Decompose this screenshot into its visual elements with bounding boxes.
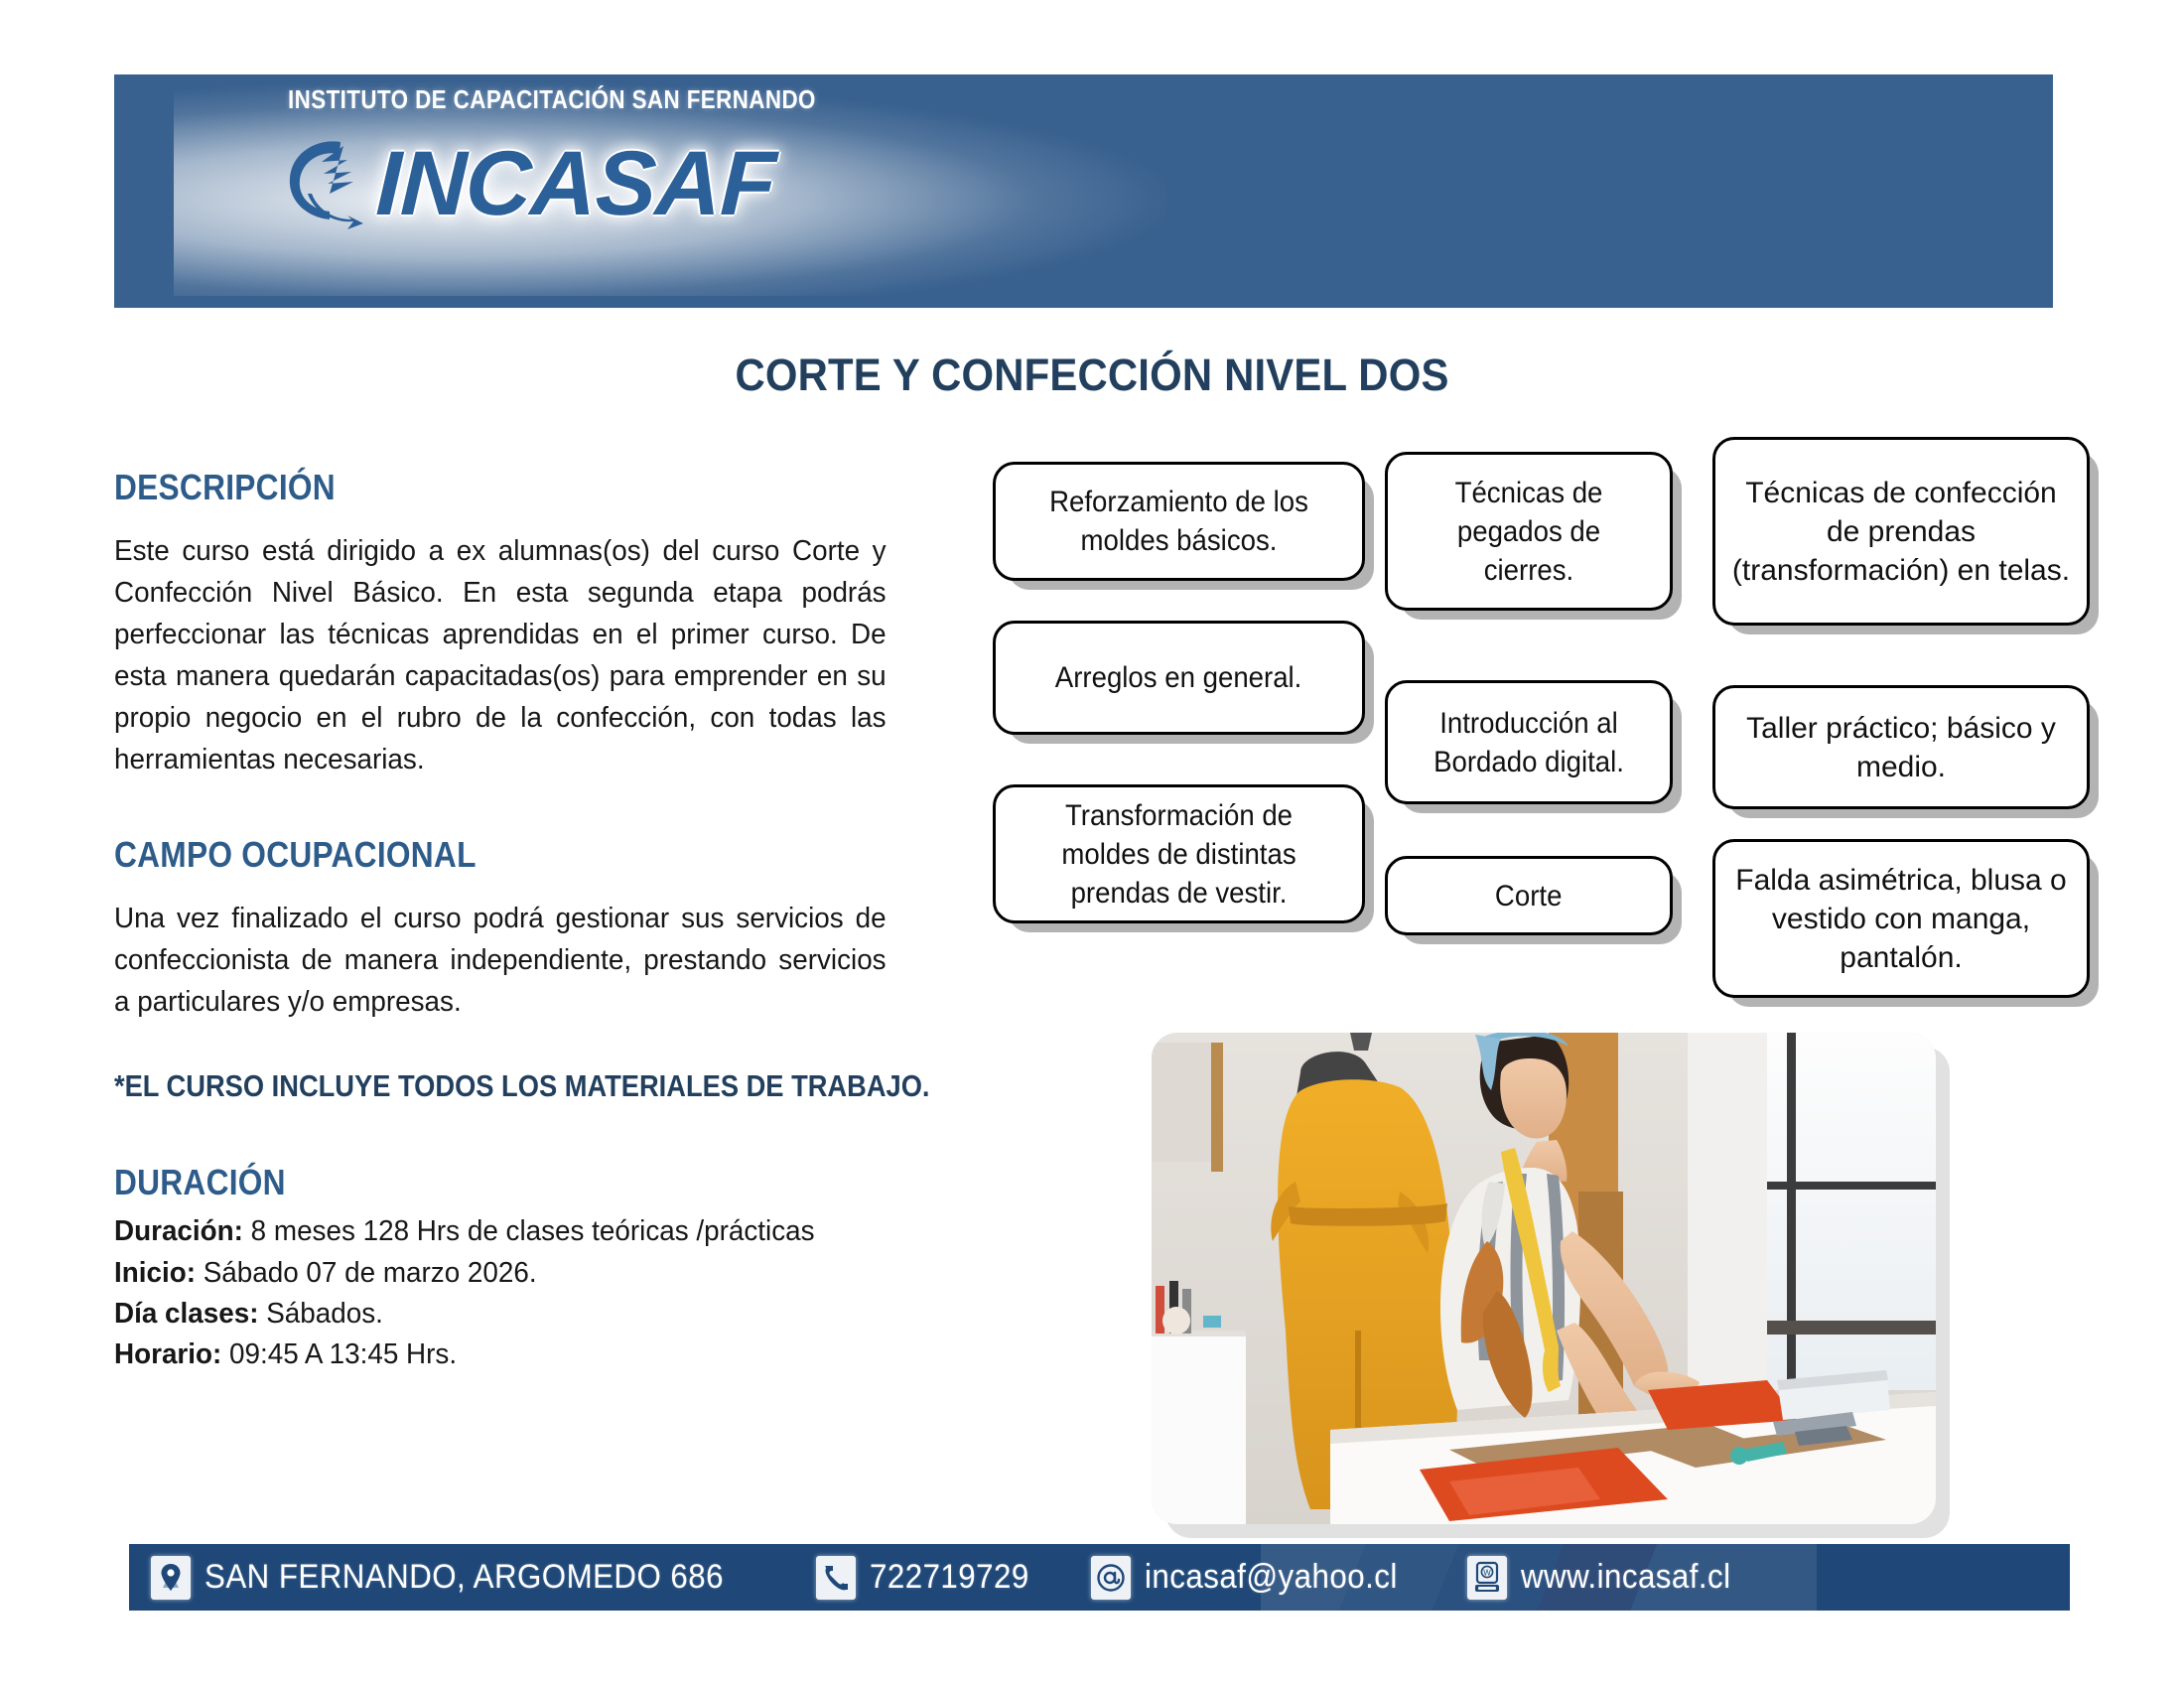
duracion-row-value: 8 meses 128 Hrs de clases teóricas /prác… xyxy=(243,1215,815,1247)
campo-ocupacional-heading: CAMPO OCUPACIONAL xyxy=(114,834,822,876)
content-box-label: Corte xyxy=(1495,877,1562,915)
duracion-row-value: Sábado 07 de marzo 2026. xyxy=(196,1257,537,1289)
at-email-icon xyxy=(1091,1556,1131,1600)
campo-ocupacional-section: CAMPO OCUPACIONAL Una vez finalizado el … xyxy=(114,834,918,1023)
logo: INCASAF xyxy=(278,132,775,236)
seamstress-photo xyxy=(1152,1033,1936,1524)
descripcion-section: DESCRIPCIÓN Este curso está dirigido a e… xyxy=(114,467,918,780)
phone-icon xyxy=(816,1556,856,1600)
descripcion-heading: DESCRIPCIÓN xyxy=(114,467,822,508)
footer-address-text: SAN FERNANDO, ARGOMEDO 686 xyxy=(205,1558,724,1597)
content-box-label: Reforzamiento de los moldes básicos. xyxy=(1024,483,1335,560)
duracion-row: Horario: 09:45 A 13:45 Hrs. xyxy=(114,1335,887,1375)
footer-bar: SAN FERNANDO, ARGOMEDO 686 722719729 inc… xyxy=(129,1544,2070,1611)
duracion-row-label: Día clases: xyxy=(114,1298,258,1330)
content-box-label: Técnicas de pegados de cierres. xyxy=(1412,474,1646,590)
campo-ocupacional-paragraph: Una vez finalizado el curso podrá gestio… xyxy=(114,898,887,1023)
duracion-row-value: Sábados. xyxy=(258,1298,382,1330)
duracion-heading: DURACIÓN xyxy=(114,1162,822,1203)
content-box[interactable]: Arreglos en general. xyxy=(993,621,1365,735)
duracion-section: DURACIÓN Duración: 8 meses 128 Hrs de cl… xyxy=(114,1162,918,1375)
footer-email[interactable]: incasaf@yahoo.cl xyxy=(1091,1556,1420,1600)
footer-website-text: www.incasaf.cl xyxy=(1521,1558,1731,1597)
content-box[interactable]: Taller práctico; básico y medio. xyxy=(1712,685,2090,809)
duracion-row-value: 09:45 A 13:45 Hrs. xyxy=(221,1338,457,1370)
duracion-row-label: Duración: xyxy=(114,1215,243,1247)
content-box-label: Arreglos en general. xyxy=(1055,658,1302,697)
content-box[interactable]: Reforzamiento de los moldes básicos. xyxy=(993,462,1365,581)
content-box-label: Taller práctico; básico y medio. xyxy=(1729,709,2073,786)
footer-website[interactable]: W www.incasaf.cl xyxy=(1467,1556,1749,1600)
svg-text:W: W xyxy=(1483,1568,1491,1577)
content-box[interactable]: Falda asimétrica, blusa o vestido con ma… xyxy=(1712,839,2090,998)
header-bar: INSTITUTO DE CAPACITACIÓN SAN FERNANDO I… xyxy=(114,74,2053,308)
page-title: CORTE Y CONFECCIÓN NIVEL DOS xyxy=(76,350,2108,401)
content-box-label: Técnicas de confección de prendas (trans… xyxy=(1729,474,2073,590)
institute-name: INSTITUTO DE CAPACITACIÓN SAN FERNANDO xyxy=(288,84,816,115)
logo-wordmark: INCASAF xyxy=(374,137,776,231)
content-box[interactable]: Transformación de moldes de distintas pr… xyxy=(993,784,1365,923)
footer-phone-text: 722719729 xyxy=(870,1558,1029,1597)
content-box-label: Falda asimétrica, blusa o vestido con ma… xyxy=(1729,861,2073,977)
duracion-row: Día clases: Sábados. xyxy=(114,1294,887,1335)
content-box-label: Introducción al Bordado digital. xyxy=(1412,704,1646,781)
duracion-row: Duración: 8 meses 128 Hrs de clases teór… xyxy=(114,1211,887,1252)
content-box[interactable]: Introducción al Bordado digital. xyxy=(1385,680,1673,804)
duracion-row-label: Horario: xyxy=(114,1338,221,1370)
footer-email-text: incasaf@yahoo.cl xyxy=(1145,1558,1398,1597)
content-box[interactable]: Técnicas de confección de prendas (trans… xyxy=(1712,437,2090,626)
descripcion-paragraph: Este curso está dirigido a ex alumnas(os… xyxy=(114,530,887,780)
website-computer-icon: W xyxy=(1467,1556,1507,1600)
content-box[interactable]: Corte xyxy=(1385,856,1673,935)
footer-address[interactable]: SAN FERNANDO, ARGOMEDO 686 xyxy=(151,1556,768,1600)
footer-phone[interactable]: 722719729 xyxy=(816,1556,1043,1600)
content-box[interactable]: Técnicas de pegados de cierres. xyxy=(1385,452,1673,611)
left-content-column: DESCRIPCIÓN Este curso está dirigido a e… xyxy=(114,467,918,1375)
eagle-logo-icon xyxy=(278,132,372,236)
content-box-label: Transformación de moldes de distintas pr… xyxy=(1024,796,1335,913)
duracion-row: Inicio: Sábado 07 de marzo 2026. xyxy=(114,1253,887,1294)
location-pin-icon xyxy=(151,1556,191,1600)
duracion-row-label: Inicio: xyxy=(114,1257,196,1289)
materials-note: *EL CURSO INCLUYE TODOS LOS MATERIALES D… xyxy=(114,1068,822,1104)
